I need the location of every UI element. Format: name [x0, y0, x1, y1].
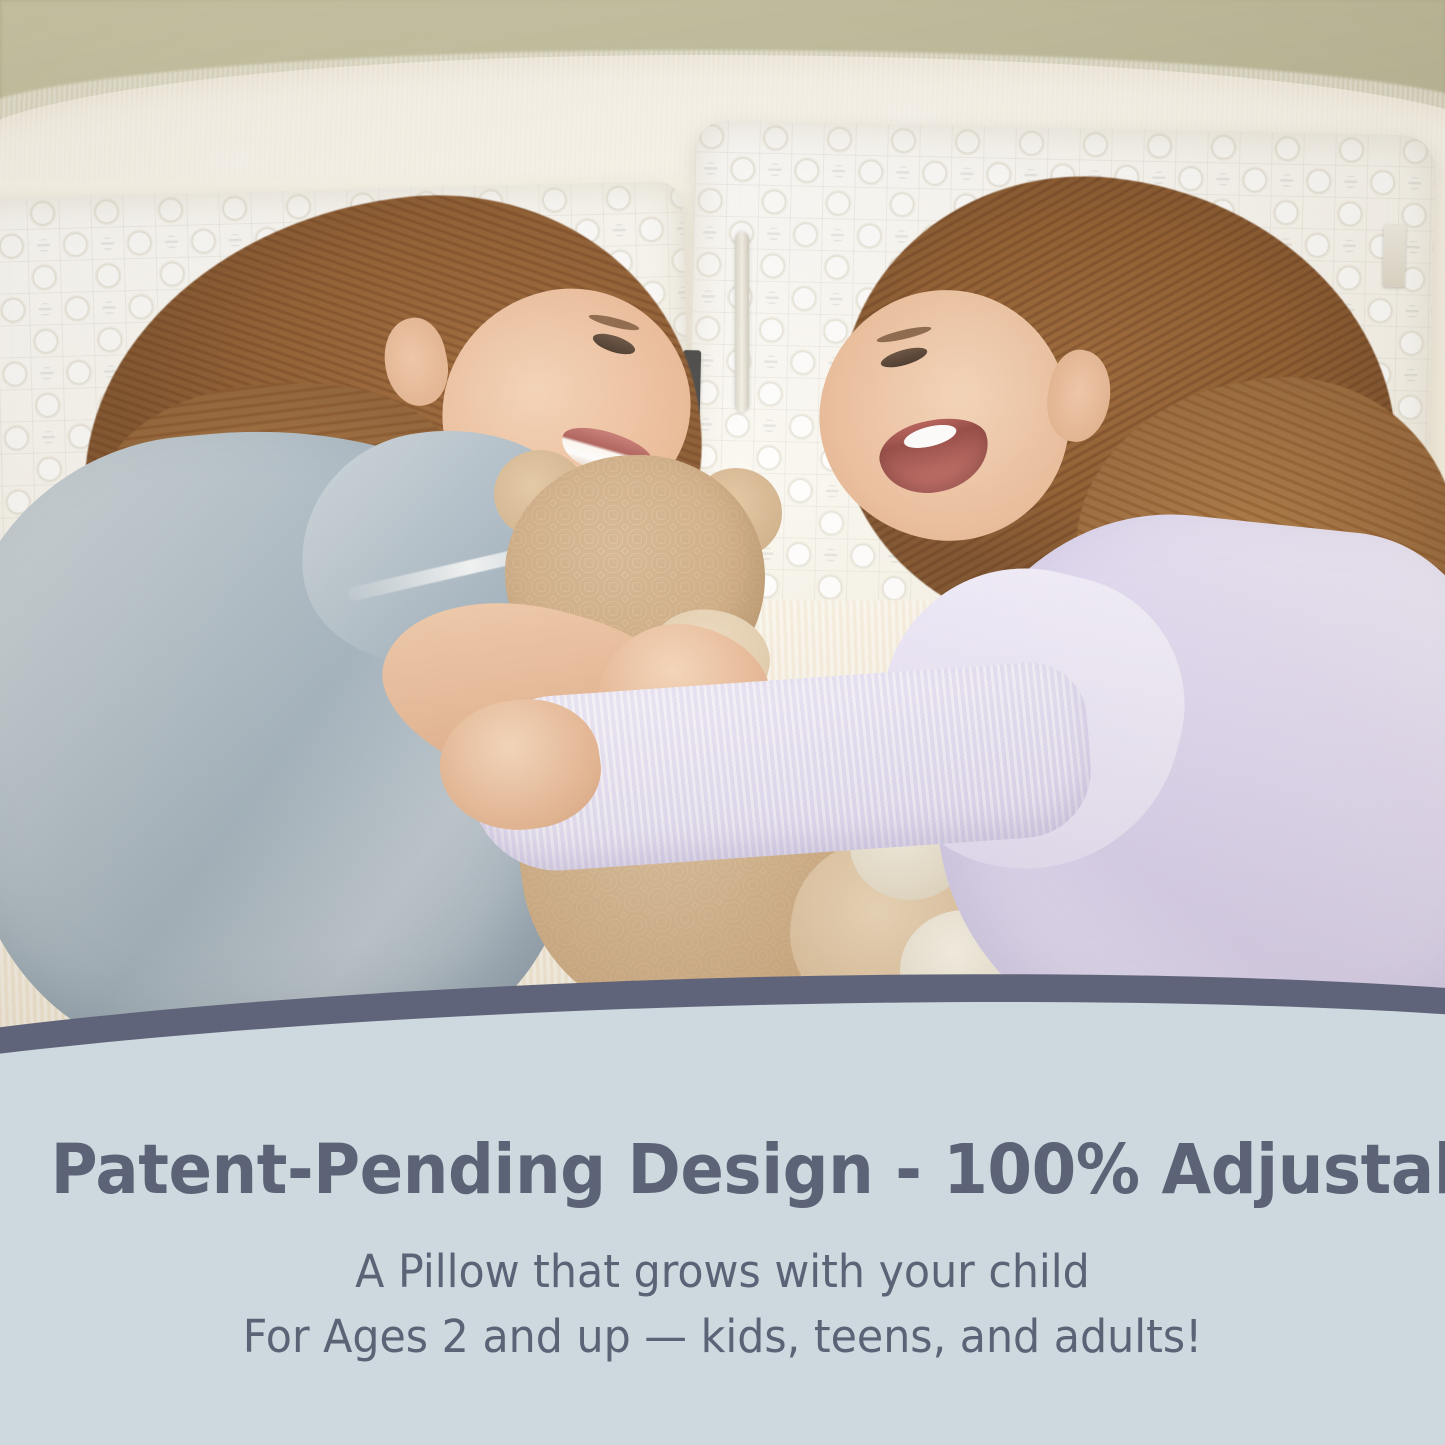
pillow-zipper: [735, 232, 749, 412]
pillow-brand-tag: [1383, 225, 1406, 287]
subtitle-line-2: For Ages 2 and up — kids, teens, and adu…: [36, 1310, 1409, 1363]
product-lifestyle-banner: Patent-Pending Design - 100% Adjustable …: [0, 0, 1445, 1445]
headline: Patent-Pending Design - 100% Adjustable: [51, 1135, 1395, 1207]
subtitle-line-1: A Pillow that grows with your child: [36, 1245, 1409, 1298]
lifestyle-photo: [0, 0, 1445, 1090]
banner-copy: Patent-Pending Design - 100% Adjustable …: [0, 1135, 1445, 1445]
